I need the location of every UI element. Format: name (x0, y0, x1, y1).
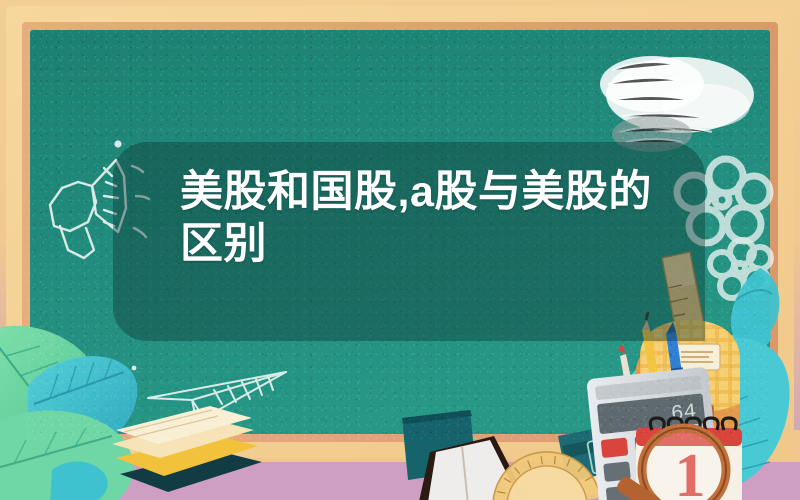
title-line-2: 区别 (180, 218, 650, 270)
magnifier (615, 428, 726, 500)
page-title: 美股和国股,a股与美股的 区别 (180, 166, 650, 270)
title-line-1: 美股和国股,a股与美股的 (180, 166, 650, 218)
illustration-canvas: 64 (0, 0, 800, 500)
